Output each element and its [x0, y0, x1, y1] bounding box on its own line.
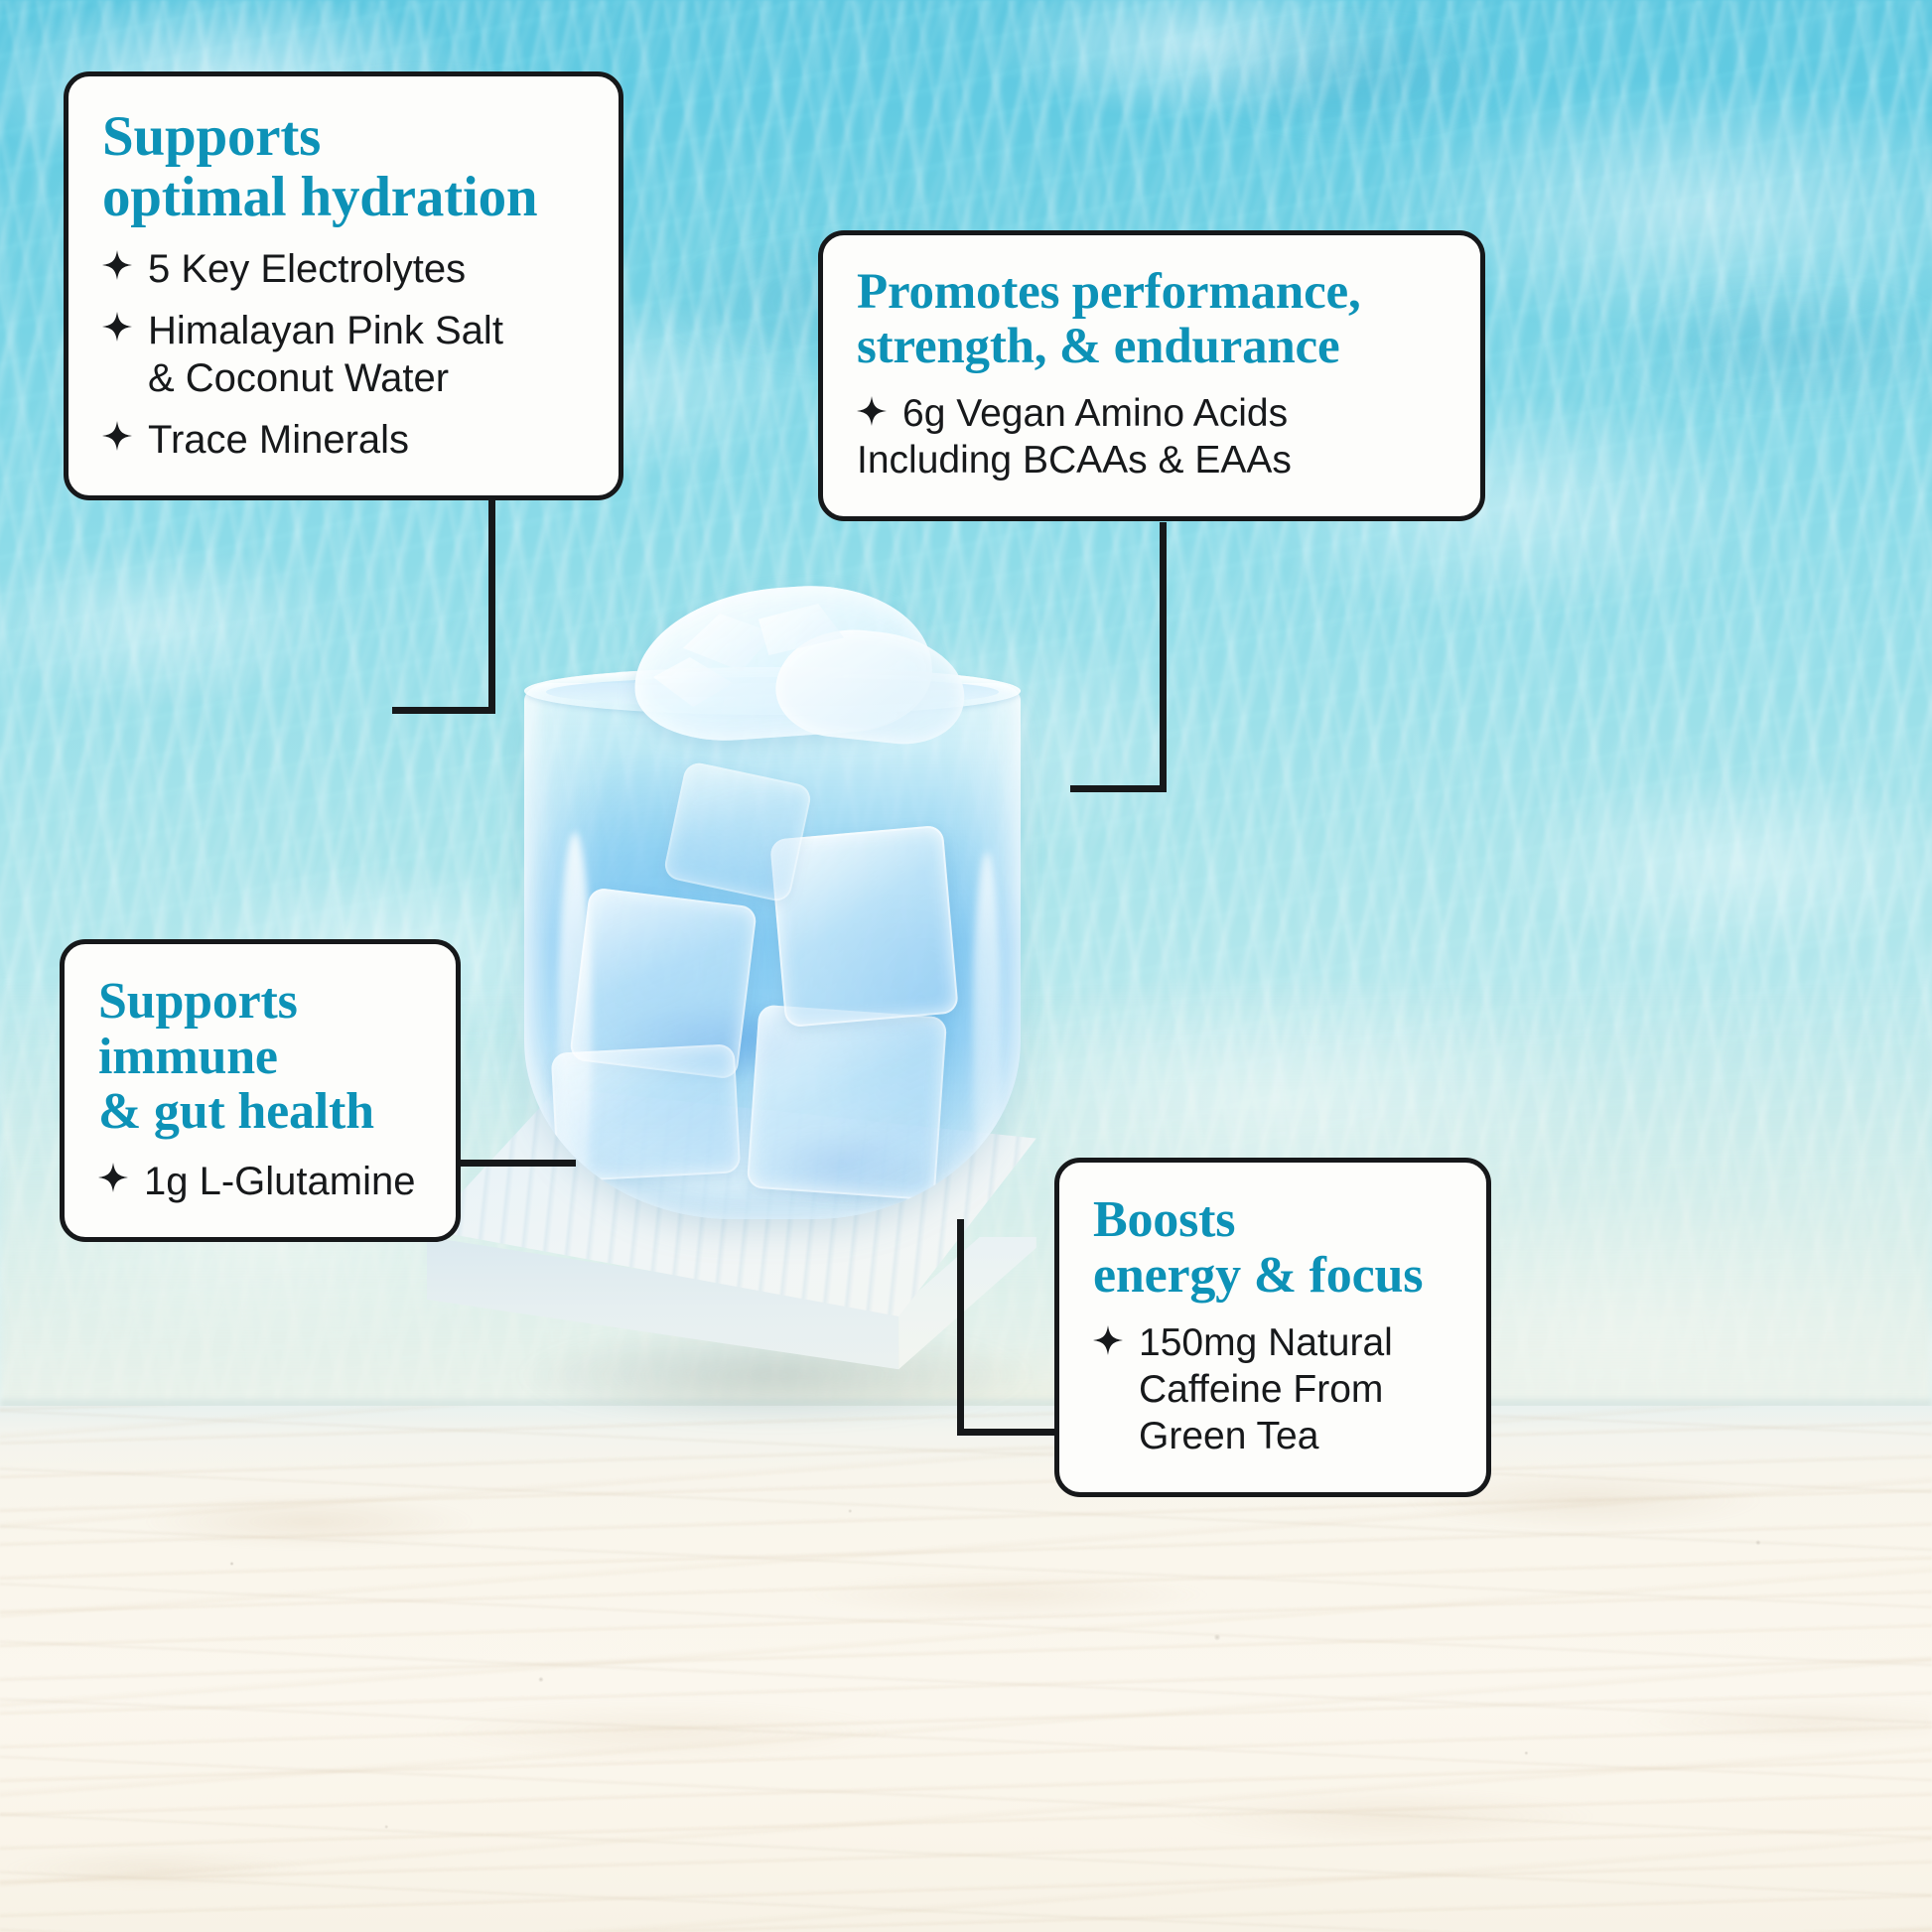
card-title-performance: Promotes performance, strength, & endura…: [857, 265, 1447, 373]
sparkle-star-icon: [102, 421, 132, 451]
ice-cube: [747, 1005, 947, 1201]
benefit-card-energy: Boosts energy & focus 150mg Natural Caff…: [1054, 1158, 1491, 1497]
benefit-card-performance: Promotes performance, strength, & endura…: [818, 230, 1485, 521]
benefit-card-immune: Supports immune & gut health 1g L-Glutam…: [60, 939, 461, 1242]
connector-segment-horizontal: [392, 707, 495, 714]
connector-segment-horizontal: [459, 1160, 576, 1167]
list-item-text: Himalayan Pink Salt & Coconut Water: [148, 307, 503, 402]
card-title-hydration: Supports optimal hydration: [102, 106, 585, 227]
glass-highlight-right: [973, 852, 1001, 1209]
card-title-immune: Supports immune & gut health: [98, 974, 422, 1140]
marble-flecks: [0, 1406, 1932, 1932]
list-item: 1g L-Glutamine: [98, 1158, 422, 1205]
list-item-text: 150mg Natural Caffeine From Green Tea: [1139, 1320, 1393, 1459]
connector-segment-horizontal: [957, 1429, 1060, 1436]
list-item: Trace Minerals: [102, 416, 585, 464]
list-item-text: 5 Key Electrolytes: [148, 245, 466, 293]
infographic-canvas: Supports optimal hydration 5 Key Electro…: [0, 0, 1932, 1932]
connector-segment-horizontal: [1070, 785, 1167, 792]
connector-segment-vertical: [1160, 522, 1167, 792]
list-item-text: Trace Minerals: [148, 416, 409, 464]
sparkle-star-icon: [98, 1163, 128, 1192]
benefit-card-hydration: Supports optimal hydration 5 Key Electro…: [64, 71, 623, 500]
benefit-list-energy: 150mg Natural Caffeine From Green Tea: [1093, 1320, 1452, 1459]
card-title-energy: Boosts energy & focus: [1093, 1192, 1452, 1303]
sparkle-star-icon: [1093, 1325, 1123, 1355]
list-item-text: 1g L-Glutamine: [144, 1158, 415, 1205]
connector-line-energy: [957, 1219, 1060, 1440]
connector-segment-vertical: [488, 484, 495, 714]
glass-body: [524, 683, 1021, 1219]
connector-segment-vertical: [957, 1219, 964, 1436]
connector-line-immune: [459, 1160, 576, 1170]
list-item: 150mg Natural Caffeine From Green Tea: [1093, 1320, 1452, 1459]
benefit-list-hydration: 5 Key Electrolytes Himalayan Pink Salt &…: [102, 245, 585, 464]
sparkle-star-icon: [857, 396, 887, 426]
sparkle-star-icon: [102, 312, 132, 342]
connector-line-performance: [1070, 522, 1170, 798]
sparkle-star-icon: [102, 250, 132, 280]
list-item: 5 Key Electrolytes: [102, 245, 585, 293]
list-item: 6g Vegan Amino Acids Including BCAAs & E…: [857, 391, 1447, 484]
list-item: Himalayan Pink Salt & Coconut Water: [102, 307, 585, 402]
benefit-list-performance: 6g Vegan Amino Acids Including BCAAs & E…: [857, 391, 1447, 484]
connector-line-hydration: [392, 484, 501, 719]
glass-tumbler: [516, 596, 1033, 1231]
list-item-text: 6g Vegan Amino Acids Including BCAAs & E…: [902, 391, 1292, 484]
benefit-list-immune: 1g L-Glutamine: [98, 1158, 422, 1205]
